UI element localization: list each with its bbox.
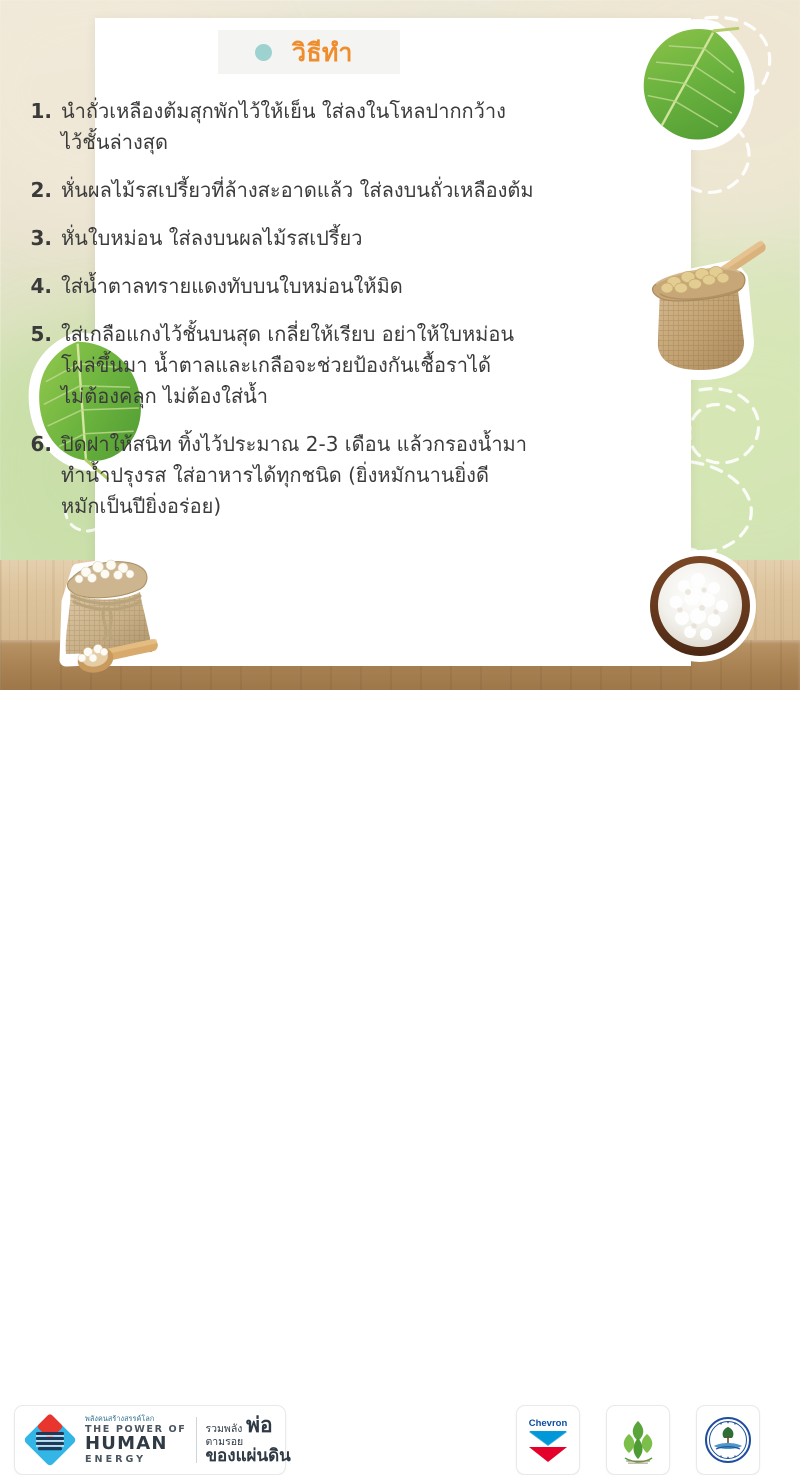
step-text: นำถั่วเหลืองต้มสุกพักไว้ให้เย็น ใส่ลงในโ… <box>61 96 506 158</box>
list-item: 6. ปิดฝาให้สนิท ทิ้งไว้ประมาณ 2-3 เดือน … <box>26 429 586 522</box>
infographic-root: วิธีทำ 1. นำถั่วเหลืองต้มสุกพักไว้ให้เย็… <box>0 0 800 800</box>
human-energy-wordmark: พลังคนสร้างสรรค์โลก THE POWER OF HUMAN E… <box>85 1415 186 1464</box>
blue-seal-logo <box>696 1405 760 1475</box>
list-item: 2. หั่นผลไม้รสเปรี้ยวที่ล้างสะอาดแล้ว ใส… <box>26 175 586 206</box>
step-text-line: ใส่เกลือแกงไว้ชั้นบนสุด เกลี่ยให้เรียบ อ… <box>61 319 514 350</box>
step-number: 3. <box>26 223 52 254</box>
section-header: วิธีทำ <box>218 30 400 74</box>
bullet-dot-icon <box>255 44 272 61</box>
human-energy-hands-icon <box>21 1411 79 1469</box>
power-of-human-energy-logo: พลังคนสร้างสรรค์โลก THE POWER OF HUMAN E… <box>14 1405 286 1475</box>
mulberry-leaf-top-right-icon <box>616 12 766 152</box>
step-text-line: โผล่ขึ้นมา น้ำตาลและเกลือจะช่วยป้องกันเช… <box>61 350 514 381</box>
king-campaign-small2: ตามรอย <box>205 1437 243 1448</box>
step-text: ใส่เกลือแกงไว้ชั้นบนสุด เกลี่ยให้เรียบ อ… <box>61 319 514 412</box>
step-text: หั่นใบหม่อน ใส่ลงบนผลไม้รสเปรี้ยว <box>61 223 362 254</box>
list-item: 5. ใส่เกลือแกงไว้ชั้นบนสุด เกลี่ยให้เรีย… <box>26 319 586 412</box>
step-text: ปิดฝาให้สนิท ทิ้งไว้ประมาณ 2-3 เดือน แล้… <box>61 429 527 522</box>
divider <box>196 1417 197 1463</box>
step-text-line: ไม่ต้องคลุก ไม่ต้องใส่น้ำ <box>61 381 514 412</box>
human-energy-line2: HUMAN <box>85 1435 186 1453</box>
human-energy-line1: THE POWER OF <box>85 1425 186 1435</box>
list-item: 3. หั่นใบหม่อน ใส่ลงบนผลไม้รสเปรี้ยว <box>26 223 586 254</box>
step-text-line: หั่นใบหม่อน ใส่ลงบนผลไม้รสเปรี้ยว <box>61 223 362 254</box>
step-text-line: หมักเป็นปียิ่งอร่อย) <box>61 491 527 522</box>
step-text-line: ไว้ชั้นล่างสุด <box>61 127 506 158</box>
human-energy-line3: ENERGY <box>85 1455 186 1465</box>
step-text: ใส่น้ำตาลทรายแดงทับบนใบหม่อนให้มิด <box>61 271 403 302</box>
green-leaf-mark-icon <box>615 1414 661 1466</box>
footer-logo-bar: พลังคนสร้างสรรค์โลก THE POWER OF HUMAN E… <box>0 690 800 800</box>
king-campaign-line2: ของแผ่นดิน <box>205 1448 290 1465</box>
green-leaf-logo <box>606 1405 670 1475</box>
page-title: วิธีทำ <box>292 40 353 65</box>
step-number: 1. <box>26 96 52 158</box>
salt-bowl-icon <box>636 548 776 678</box>
blue-seal-mark-icon <box>704 1416 752 1464</box>
king-campaign-big: พ่อ <box>246 1415 272 1436</box>
list-item: 4. ใส่น้ำตาลทรายแดงทับบนใบหม่อนให้มิด <box>26 271 586 302</box>
step-number: 6. <box>26 429 52 522</box>
chevron-label: Chevron <box>529 1418 568 1429</box>
step-number: 5. <box>26 319 52 412</box>
step-text: หั่นผลไม้รสเปรี้ยวที่ล้างสะอาดแล้ว ใส่ลง… <box>61 175 534 206</box>
step-number: 4. <box>26 271 52 302</box>
chevron-mark-icon: Chevron <box>525 1414 571 1466</box>
salt-sack-icon <box>42 548 202 690</box>
steps-list: 1. นำถั่วเหลืองต้มสุกพักไว้ให้เย็น ใส่ลง… <box>26 96 586 539</box>
soybean-sack-icon <box>636 238 782 388</box>
list-item: 1. นำถั่วเหลืองต้มสุกพักไว้ให้เย็น ใส่ลง… <box>26 96 586 158</box>
king-campaign-wordmark: รวมพลัง ตามรอย พ่อ ของแผ่นดิน <box>205 1415 290 1466</box>
chevron-logo: Chevron <box>516 1405 580 1475</box>
step-number: 2. <box>26 175 52 206</box>
step-text-line: ปิดฝาให้สนิท ทิ้งไว้ประมาณ 2-3 เดือน แล้… <box>61 429 527 460</box>
step-text-line: ทำน้ำปรุงรส ใส่อาหารได้ทุกชนิด (ยิ่งหมัก… <box>61 460 527 491</box>
human-energy-thai-tagline: พลังคนสร้างสรรค์โลก <box>85 1415 186 1422</box>
step-text-line: นำถั่วเหลืองต้มสุกพักไว้ให้เย็น ใส่ลงในโ… <box>61 96 506 127</box>
step-text-line: ใส่น้ำตาลทรายแดงทับบนใบหม่อนให้มิด <box>61 271 403 302</box>
king-campaign-small1: รวมพลัง <box>205 1423 242 1435</box>
step-text-line: หั่นผลไม้รสเปรี้ยวที่ล้างสะอาดแล้ว ใส่ลง… <box>61 175 534 206</box>
